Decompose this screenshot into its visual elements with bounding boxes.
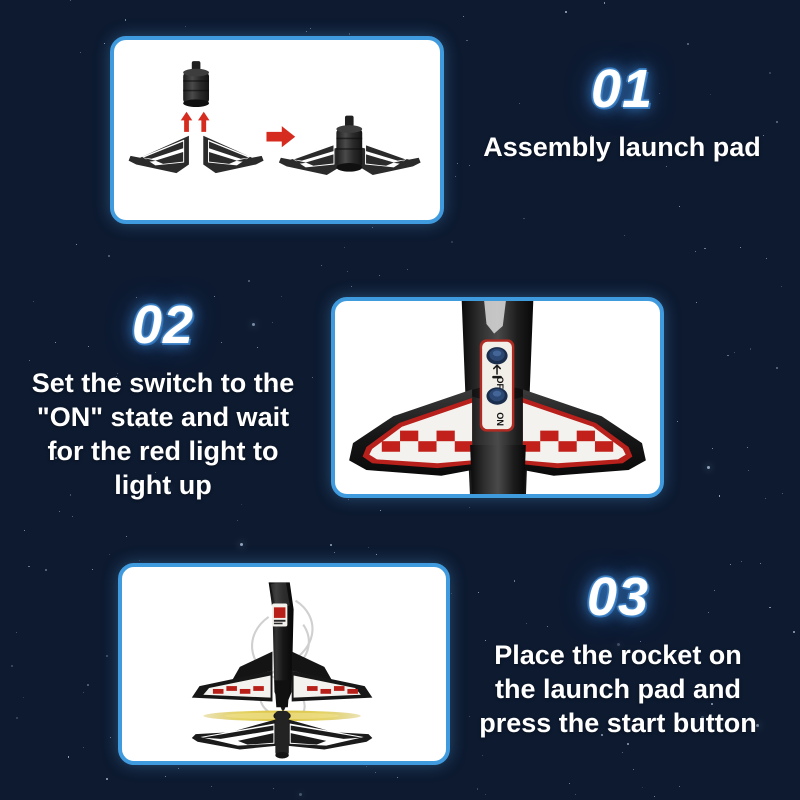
step-3-text-block: 03 Place the rocket on the launch pad an… [440, 570, 796, 740]
step-2-image-card: OFF ON [331, 297, 664, 498]
truss-leg-left-assembled [279, 143, 339, 175]
step-2-number: 02 [4, 298, 322, 352]
insert-up-arrow-left [181, 112, 192, 132]
instruction-frame: OFF ON [0, 0, 800, 800]
step-3-image-card [118, 563, 450, 765]
step-1-description: Assembly launch pad [448, 130, 796, 164]
power-switch-panel: OFF ON [480, 339, 515, 431]
truss-leg-right [203, 136, 263, 173]
launch-pad-assembly-illustration [114, 40, 440, 220]
launcher-hub [183, 61, 209, 107]
switch-button-on [486, 387, 507, 404]
step-3-description: Place the rocket on the launch pad and p… [440, 638, 796, 740]
step-2-text-block: 02 Set the switch to the "ON" state and … [4, 298, 322, 502]
insert-up-arrow-right [198, 112, 209, 132]
truss-leg-right-assembled [360, 143, 420, 175]
switch-button-off [486, 347, 507, 364]
rocket-on-launch-pad-illustration [122, 567, 446, 761]
step-1-image-card [110, 36, 444, 224]
step-1-text-block: 01 Assembly launch pad [448, 62, 796, 164]
rocket-wing-left [349, 389, 472, 475]
rocket-wing-right [523, 389, 646, 475]
step-1-number: 01 [448, 62, 796, 116]
step-3-number: 03 [440, 570, 796, 624]
launcher-hub-assembled [336, 116, 362, 172]
step-2-description: Set the switch to the "ON" state and wai… [4, 366, 322, 502]
rocket-lower-body [470, 445, 526, 494]
rocket-red-marking [274, 607, 286, 618]
truss-leg-left [129, 136, 189, 173]
rocket-tail-switch-illustration: OFF ON [335, 301, 660, 494]
result-right-arrow [266, 126, 295, 147]
exploded-launch-pad [129, 61, 264, 173]
assembled-launch-pad [279, 116, 421, 175]
switch-on-label: ON [495, 412, 505, 426]
